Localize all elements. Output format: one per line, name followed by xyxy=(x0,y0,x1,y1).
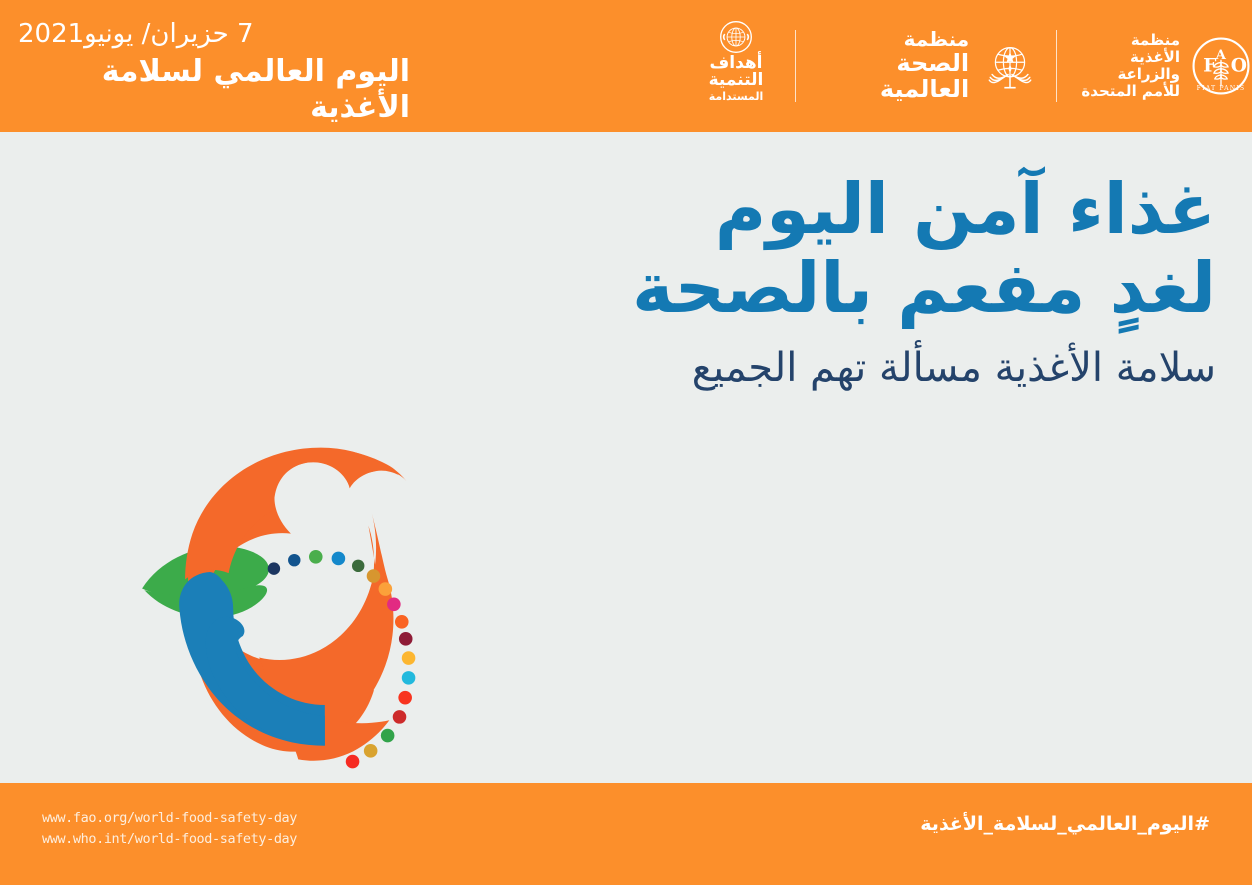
fao-line-1: منظمة xyxy=(1070,32,1180,49)
main-headline: غذاء آمن اليوم لغدٍ مفعم بالصحة xyxy=(576,170,1216,328)
svg-text:O: O xyxy=(1231,55,1247,76)
world-food-safety-day-logo xyxy=(34,348,524,778)
header-title-block: 7 حزيران/ يونيو2021 اليوم العالمي لسلامة… xyxy=(0,0,430,132)
header-bar: 7 حزيران/ يونيو2021 اليوم العالمي لسلامة… xyxy=(0,0,1252,132)
headline-block: غذاء آمن اليوم لغدٍ مفعم بالصحة سلامة ال… xyxy=(576,170,1216,392)
headline-line-2: لغدٍ مفعم بالصحة xyxy=(576,249,1216,328)
fao-emblem-icon: F O A FIAT PANIS xyxy=(1190,35,1252,97)
sub-headline: سلامة الأغذية مسألة تهم الجميع xyxy=(576,344,1216,392)
sdg-dot-15 xyxy=(381,729,395,743)
event-date: 7 حزيران/ يونيو2021 xyxy=(0,20,254,50)
sdg-dot-1 xyxy=(268,562,280,574)
who-text: منظمة الصحة العالمية xyxy=(809,29,969,102)
who-line-2: الصحة العالمية xyxy=(809,51,969,103)
sdg-line-3: المستدامة xyxy=(709,91,764,102)
logo-artwork xyxy=(34,348,524,778)
sdg-text: أهداف التنمية المستدامة xyxy=(709,55,764,102)
sdg-dot-5 xyxy=(352,560,364,572)
fao-logo: منظمة الأغذية والزراعة للأمم المتحدة F O… xyxy=(1070,20,1252,112)
sdg-logo: أهداف التنمية المستدامة xyxy=(690,20,782,112)
fao-text: منظمة الأغذية والزراعة للأمم المتحدة xyxy=(1070,32,1180,101)
who-logo: منظمة الصحة العالمية xyxy=(809,20,1043,112)
headline-line-1: غذاء آمن اليوم xyxy=(576,170,1216,249)
sdg-dot-4 xyxy=(332,552,346,566)
fao-website-link[interactable]: www.fao.org/world-food-safety-day xyxy=(42,808,297,829)
who-emblem-icon xyxy=(977,33,1043,99)
logo-divider xyxy=(795,30,796,102)
who-line-1: منظمة xyxy=(809,29,969,51)
who-website-link[interactable]: www.who.int/world-food-safety-day xyxy=(42,829,297,850)
sdg-dot-13 xyxy=(398,691,412,705)
svg-text:FIAT PANIS: FIAT PANIS xyxy=(1197,85,1246,92)
sdg-dot-8 xyxy=(387,598,401,612)
sdg-dot-6 xyxy=(367,569,381,583)
sdg-dot-17 xyxy=(346,755,360,769)
banner-body: غذاء آمن اليوم لغدٍ مفعم بالصحة سلامة ال… xyxy=(0,132,1252,783)
sdg-line-2: التنمية xyxy=(709,72,764,89)
event-name: اليوم العالمي لسلامة الأغذية xyxy=(0,54,410,126)
sdg-dot-9 xyxy=(395,615,409,629)
sdg-dot-2 xyxy=(288,554,300,566)
sdg-dot-7 xyxy=(379,582,393,596)
fao-line-2: الأغذية والزراعة xyxy=(1070,49,1180,84)
sdg-dot-12 xyxy=(402,671,416,685)
campaign-hashtag[interactable]: #اليوم_العالمي_لسلامة_الأغذية xyxy=(920,813,1210,835)
sdg-dot-10 xyxy=(399,632,413,646)
fao-line-3: للأمم المتحدة xyxy=(1070,83,1180,100)
sdg-dot-16 xyxy=(364,744,378,758)
sdg-dot-14 xyxy=(393,710,407,724)
organization-logos: أهداف التنمية المستدامة منظمة الصحة العا… xyxy=(690,0,1252,132)
un-emblem-icon xyxy=(719,20,753,54)
logo-divider xyxy=(1056,30,1057,102)
world-food-safety-day-banner: 7 حزيران/ يونيو2021 اليوم العالمي لسلامة… xyxy=(0,0,1252,885)
footer-links: www.fao.org/world-food-safety-day www.wh… xyxy=(42,808,297,850)
footer-bar: www.fao.org/world-food-safety-day www.wh… xyxy=(0,783,1252,885)
sdg-dot-11 xyxy=(402,651,416,665)
sdg-dot-3 xyxy=(309,550,323,564)
